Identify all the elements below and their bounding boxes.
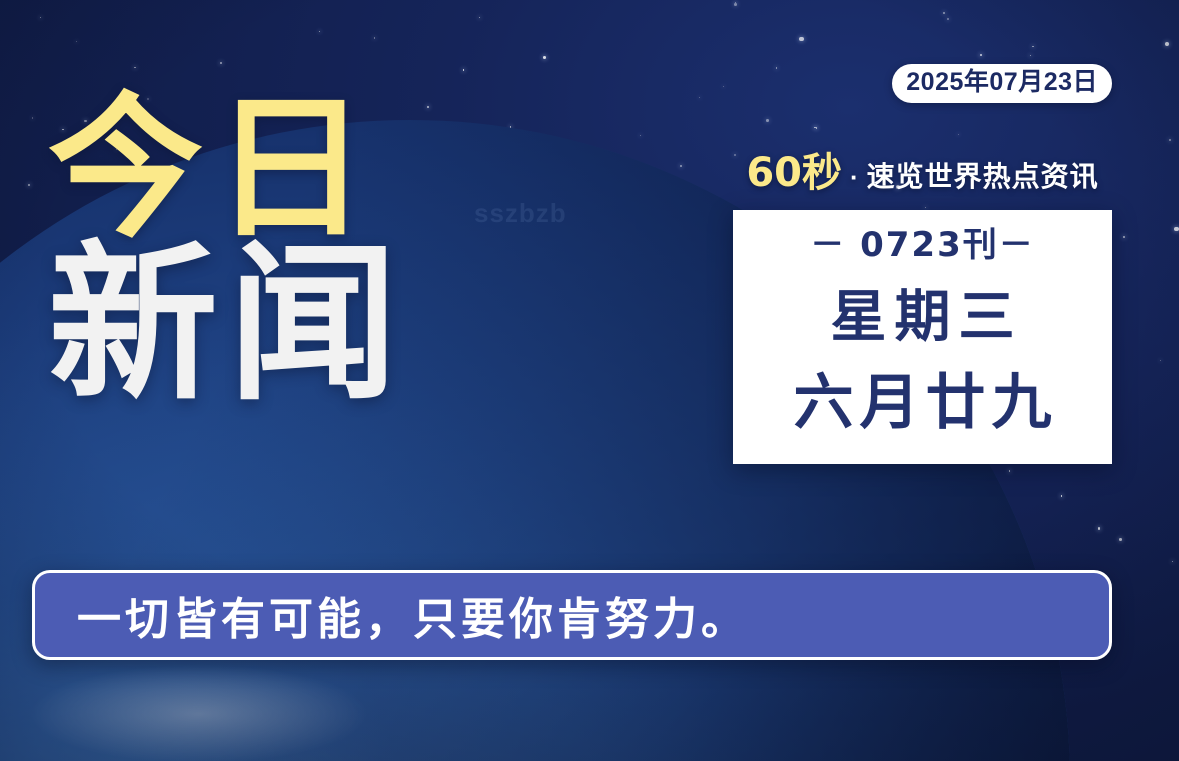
tagline-highlight: 60秒 bbox=[746, 140, 842, 198]
lunar-date: 六月廿九 bbox=[733, 364, 1112, 442]
headline-line-news: 新闻 bbox=[48, 247, 408, 403]
tagline: 60秒 · 速览世界热点资讯 bbox=[733, 140, 1112, 198]
news-poster: sszbzb 今日 新闻 2025年07月23日 60秒 · 速览世界热点资讯 … bbox=[0, 0, 1179, 761]
date-info-card: － 0723刊－ 星期三 六月廿九 bbox=[733, 210, 1112, 464]
weekday: 星期三 bbox=[733, 279, 1112, 355]
right-column: 60秒 · 速览世界热点资讯 － 0723刊－ 星期三 六月廿九 bbox=[733, 140, 1112, 464]
quote-banner: 一切皆有可能，只要你肯努力。 bbox=[32, 570, 1112, 660]
poster-headline: 今日 新闻 bbox=[48, 98, 408, 403]
quote-text: 一切皆有可能，只要你肯努力。 bbox=[35, 583, 749, 647]
issue-number: － 0723刊－ bbox=[733, 224, 1112, 267]
tagline-separator-dot: · bbox=[848, 162, 861, 193]
headline-line-today: 今日 bbox=[48, 98, 408, 241]
tagline-text: 速览世界热点资讯 bbox=[867, 155, 1099, 195]
date-badge: 2025年07月23日 bbox=[892, 64, 1112, 103]
